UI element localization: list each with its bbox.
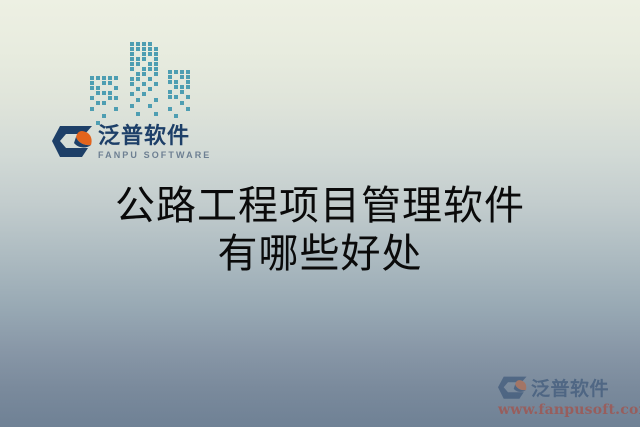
brand-logo: 泛普软件 FANPU SOFTWARE: [52, 124, 211, 161]
watermark-url: www.fanpusoft.com: [498, 402, 638, 418]
brand-logo-text: 泛普软件 FANPU SOFTWARE: [98, 124, 211, 161]
brand-name-en: FANPU SOFTWARE: [98, 149, 211, 161]
fanpu-swoosh-logo-icon: [498, 375, 528, 401]
page-title-line-2: 有哪些好处: [0, 230, 640, 278]
page-title-line-1: 公路工程项目管理软件: [0, 182, 640, 230]
page-title: 公路工程项目管理软件 有哪些好处: [0, 182, 640, 278]
brand-name-cn: 泛普软件: [98, 124, 211, 149]
fanpu-swoosh-logo-icon: [52, 124, 94, 160]
watermark-logo-row: 泛普软件: [498, 374, 638, 401]
watermark: 泛普软件 www.fanpusoft.com: [498, 374, 638, 424]
watermark-brand-name: 泛普软件: [531, 374, 609, 401]
poster-canvas: 泛普软件 FANPU SOFTWARE 公路工程项目管理软件 有哪些好处 泛普软…: [0, 0, 640, 427]
pixel-city-skyline-icon: [84, 34, 200, 130]
